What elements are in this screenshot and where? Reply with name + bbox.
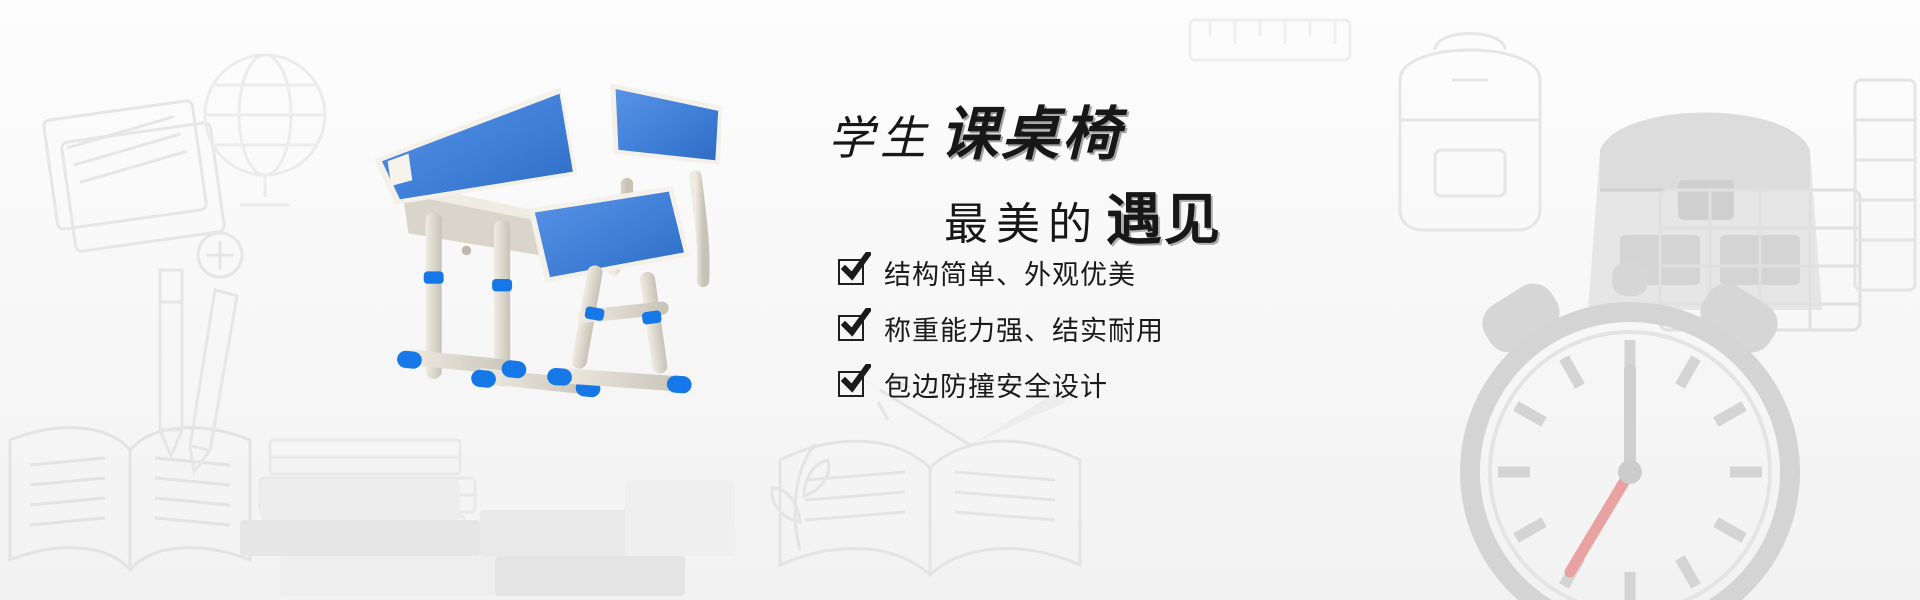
pencil-doodle (120, 250, 320, 510)
checkbox-checked-icon (838, 259, 864, 285)
feature-item: 包边防撞安全设计 (838, 362, 1164, 406)
feature-label: 结构简单、外观优美 (884, 253, 1136, 292)
headline-line2-bold: 遇见 (1106, 187, 1222, 253)
headline-line1-bold: 课桌椅 (940, 100, 1123, 168)
alarm-clock-illustration (1420, 220, 1840, 600)
right-edge-book-doodle (1845, 60, 1920, 320)
open-book-doodle (0, 380, 260, 600)
check-mark-icon (841, 308, 871, 338)
promo-banner: 学生课桌椅 最美的遇见 结构简单、外观优美 称重能力强、结实耐用 (0, 0, 1920, 600)
check-mark-icon (841, 364, 871, 394)
checkbox-checked-icon (838, 315, 864, 341)
desk-top (374, 87, 577, 205)
feature-item: 称重能力强、结实耐用 (838, 306, 1164, 350)
feature-label: 包边防撞安全设计 (884, 365, 1108, 404)
feature-list: 结构简单、外观优美 称重能力强、结实耐用 包边防撞安全设计 (838, 250, 1164, 418)
headline-line2-plain: 最美的 (944, 199, 1100, 250)
checkbox-checked-icon (838, 371, 864, 397)
headline-line1-plain: 学生 (828, 111, 932, 165)
feature-label: 称重能力强、结实耐用 (884, 309, 1164, 348)
headline-line-1: 学生课桌椅 (828, 105, 1123, 164)
notebook-doodle (30, 80, 260, 300)
check-mark-icon (841, 252, 871, 282)
feature-item: 结构简单、外观优美 (838, 250, 1164, 294)
headline-block: 学生课桌椅 最美的遇见 (820, 95, 1460, 245)
headline-line-2: 最美的遇见 (944, 175, 1222, 256)
student-desk-and-chair-photo (330, 70, 810, 450)
headline: 学生课桌椅 最美的遇见 (820, 95, 1460, 245)
